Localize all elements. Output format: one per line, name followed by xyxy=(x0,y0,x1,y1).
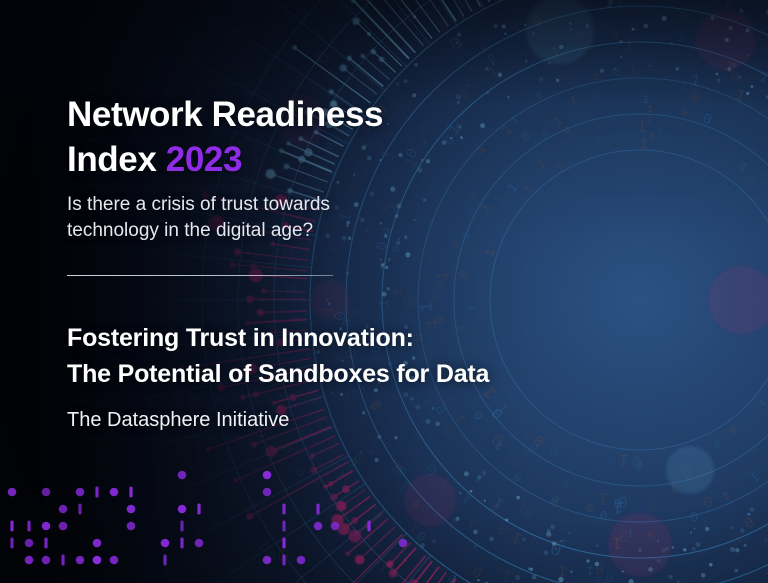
report-title: Fostering Trust in Innovation: The Poten… xyxy=(67,320,607,392)
title-line-2-prefix: Index xyxy=(67,140,166,179)
report-cover-page: 1101001111011011101110100000111000110010… xyxy=(0,0,768,583)
title-line-1: Network Readiness xyxy=(67,95,383,134)
cover-text-block: Network Readiness Index 2023 Is there a … xyxy=(67,0,707,583)
page-title: Network Readiness Index 2023 xyxy=(67,92,587,182)
report-title-line-1: Fostering Trust in Innovation: xyxy=(67,324,414,352)
report-title-line-2: The Potential of Sandboxes for Data xyxy=(67,360,489,388)
title-year: 2023 xyxy=(166,140,242,179)
report-author: The Datasphere Initiative xyxy=(67,406,289,434)
divider-rule xyxy=(67,275,333,276)
page-subtitle: Is there a crisis of trust towards techn… xyxy=(67,192,397,244)
subtitle-line-2: technology in the digital age? xyxy=(67,220,313,241)
subtitle-line-1: Is there a crisis of trust towards xyxy=(67,194,330,215)
